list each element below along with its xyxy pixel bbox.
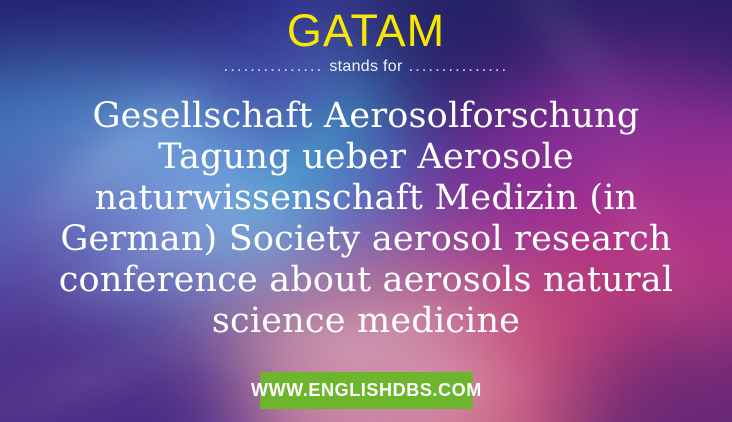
cta-container: WWW.ENGLISHDBS.COM xyxy=(0,372,732,409)
definition-text: Gesellschaft Aerosolforschung Tagung ueb… xyxy=(30,96,702,342)
leader-dots-right: ............... xyxy=(409,58,509,75)
abbreviation-definition-card: GATAM ...............stands for.........… xyxy=(0,0,732,422)
website-button-label: WWW.ENGLISHDBS.COM xyxy=(251,372,482,409)
stands-for-label: stands for xyxy=(323,58,408,75)
card-content: GATAM ...............stands for.........… xyxy=(0,0,732,422)
leader-dots-left: ............... xyxy=(224,58,324,75)
stands-for-line: ...............stands for............... xyxy=(0,58,732,76)
website-button[interactable]: WWW.ENGLISHDBS.COM xyxy=(260,372,472,409)
abbreviation-title: GATAM xyxy=(0,8,732,53)
